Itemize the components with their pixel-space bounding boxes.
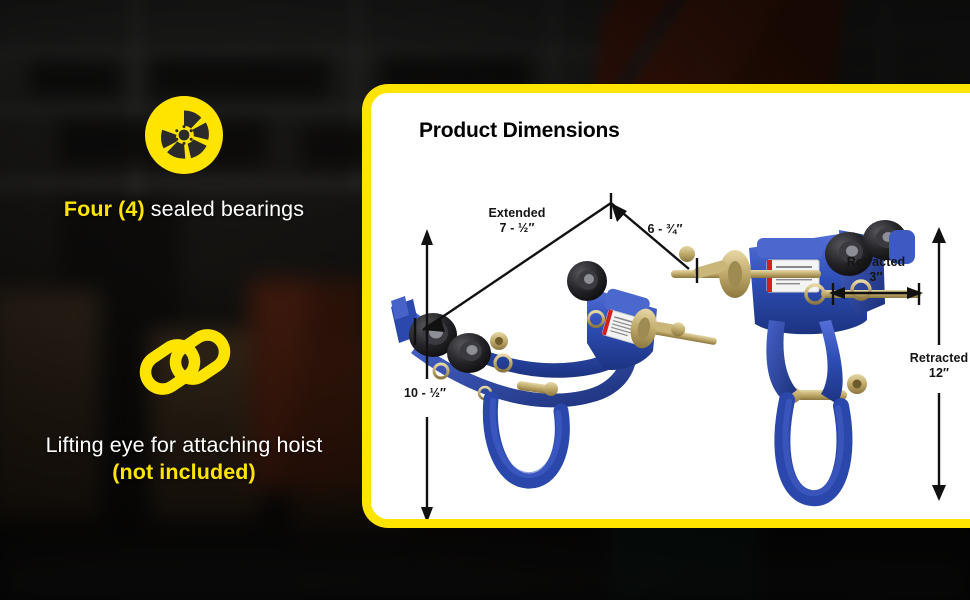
dimension-label-retracted-width: Retracted 3″ (821, 255, 931, 285)
dimension-diagram: Extended 7 - ½″ 6 - ¾″ 10 - ½″ Retracted… (371, 93, 970, 519)
feature-bearings-text: Four (4) sealed bearings (64, 196, 304, 224)
chain-link-icon (134, 320, 234, 406)
feature-list: Four (4) sealed bearings Lifting eye for… (0, 96, 368, 487)
feature-lifting-eye-text: Lifting eye for attaching hoist (not inc… (46, 432, 323, 487)
dimension-lines (371, 93, 970, 528)
feature-bearings-rest: sealed bearings (145, 197, 304, 221)
dimension-label-extended-width: Extended 7 - ½″ (457, 206, 577, 236)
product-dimensions-card: Product Dimensions (362, 84, 970, 528)
feature-sealed-bearings: Four (4) sealed bearings (0, 96, 368, 224)
bearing-wheel-icon (145, 96, 223, 174)
dimension-label-retracted-height: Retracted 12″ (893, 351, 970, 381)
feature-lifting-eye: Lifting eye for attaching hoist (not inc… (0, 320, 368, 487)
dimension-label-extended-height: 10 - ½″ (377, 386, 473, 401)
feature-lifting-eye-line1: Lifting eye for attaching hoist (46, 433, 323, 457)
dimension-label-extended-right: 6 - ¾″ (625, 222, 705, 237)
feature-lifting-eye-line2: (not included) (46, 459, 323, 487)
feature-bearings-highlight: Four (4) (64, 197, 145, 221)
product-infographic: Four (4) sealed bearings Lifting eye for… (0, 0, 970, 600)
